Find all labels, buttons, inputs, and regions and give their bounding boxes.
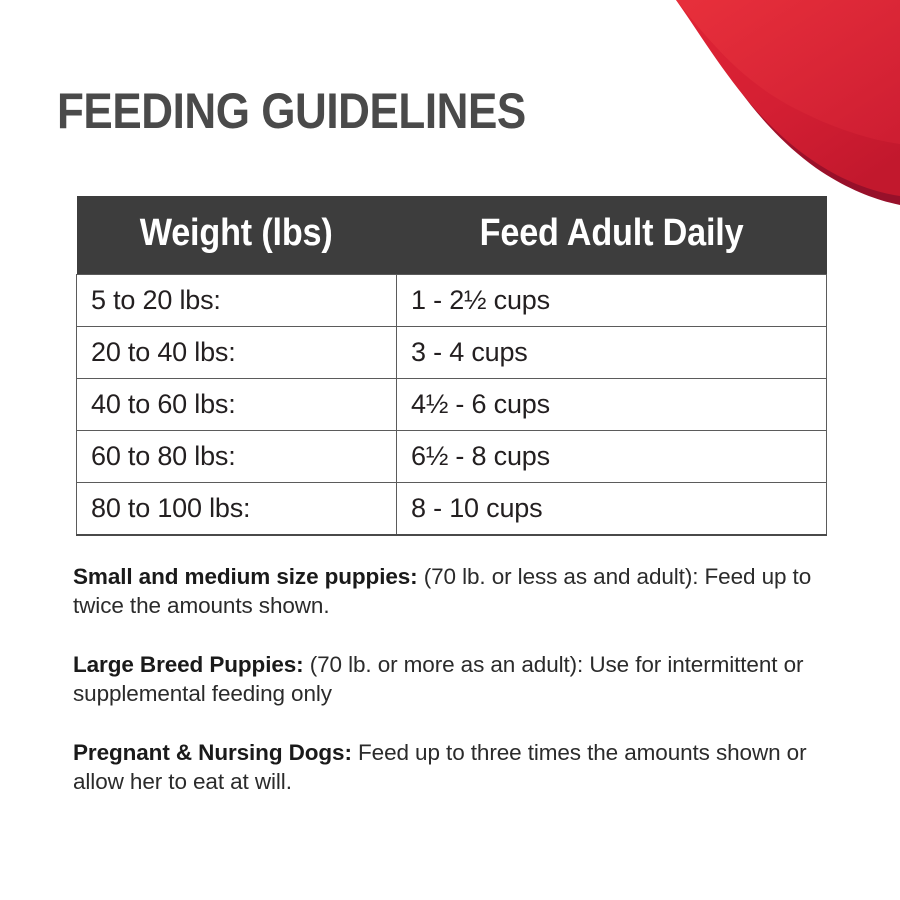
table-row: 20 to 40 lbs: 3 - 4 cups <box>77 327 827 379</box>
note-label: Large Breed Puppies: <box>73 652 304 677</box>
column-header-weight: Weight (lbs) <box>77 196 397 275</box>
cell-weight: 5 to 20 lbs: <box>77 275 397 327</box>
notes-block: Small and medium size puppies: (70 lb. o… <box>73 562 813 796</box>
cell-feed: 6½ - 8 cups <box>397 431 827 483</box>
column-header-feed-label: Feed Adult Daily <box>480 212 744 255</box>
cell-feed: 4½ - 6 cups <box>397 379 827 431</box>
note-large-breed-puppies: Large Breed Puppies: (70 lb. or more as … <box>73 650 813 708</box>
swoosh-main-layer <box>676 0 900 196</box>
swoosh-highlight-layer <box>676 0 900 144</box>
note-small-medium-puppies: Small and medium size puppies: (70 lb. o… <box>73 562 813 620</box>
cell-weight: 20 to 40 lbs: <box>77 327 397 379</box>
table-row: 80 to 100 lbs: 8 - 10 cups <box>77 483 827 536</box>
note-label: Pregnant & Nursing Dogs: <box>73 740 352 765</box>
page-title: FEEDING GUIDELINES <box>57 84 526 138</box>
cell-feed: 8 - 10 cups <box>397 483 827 536</box>
note-pregnant-nursing-dogs: Pregnant & Nursing Dogs: Feed up to thre… <box>73 738 813 796</box>
table-row: 5 to 20 lbs: 1 - 2½ cups <box>77 275 827 327</box>
column-header-feed: Feed Adult Daily <box>397 196 827 275</box>
cell-feed: 1 - 2½ cups <box>397 275 827 327</box>
red-swoosh-graphic <box>640 0 900 215</box>
column-header-weight-label: Weight (lbs) <box>140 212 333 255</box>
table-header-row: Weight (lbs) Feed Adult Daily <box>77 196 827 275</box>
swoosh-shadow-layer <box>680 0 900 205</box>
cell-weight: 80 to 100 lbs: <box>77 483 397 536</box>
cell-weight: 40 to 60 lbs: <box>77 379 397 431</box>
note-label: Small and medium size puppies: <box>73 564 418 589</box>
table-row: 40 to 60 lbs: 4½ - 6 cups <box>77 379 827 431</box>
cell-weight: 60 to 80 lbs: <box>77 431 397 483</box>
cell-feed: 3 - 4 cups <box>397 327 827 379</box>
feeding-guidelines-table: Weight (lbs) Feed Adult Daily 5 to 20 lb… <box>76 196 827 536</box>
table-row: 60 to 80 lbs: 6½ - 8 cups <box>77 431 827 483</box>
